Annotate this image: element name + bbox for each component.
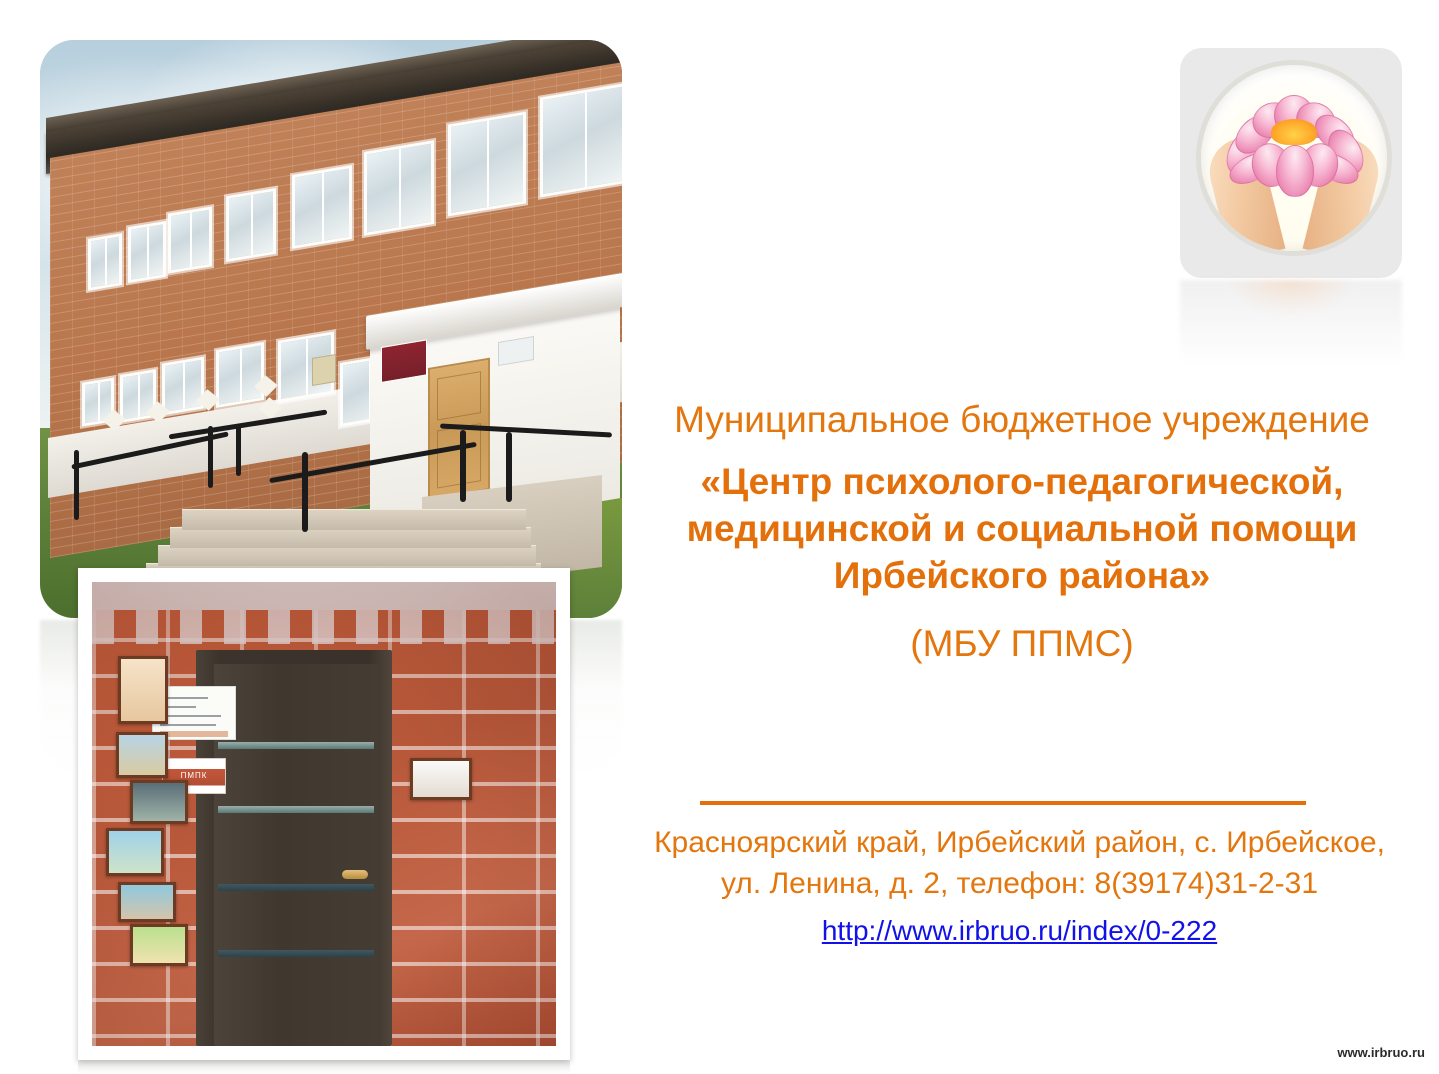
building-exterior-photo [40, 40, 622, 618]
page-title-line1: Муниципальное бюджетное учреждение [622, 398, 1422, 442]
website-link[interactable]: http://www.irbruo.ru/index/0-222 [822, 915, 1217, 946]
logo-reflection [1180, 280, 1402, 400]
door-glass-stripe [218, 742, 374, 749]
window-upper-1 [88, 233, 122, 291]
address-line-1: Красноярский край, Ирбейский район, с. И… [600, 822, 1439, 863]
window-upper-2 [128, 221, 166, 283]
window-upper-4 [226, 188, 276, 262]
door-leaf [214, 664, 378, 1046]
beige-plaque [312, 354, 336, 386]
window-upper-7 [448, 111, 526, 216]
window-upper-5 [292, 165, 352, 249]
handrail-ramp-post [460, 430, 466, 502]
red-plaque [381, 339, 427, 383]
contacts-block: Красноярский край, Ирбейский район, с. И… [600, 822, 1439, 947]
handrail-mid-post [208, 426, 213, 488]
wall-picture [118, 882, 176, 922]
window-upper-3 [168, 206, 212, 273]
lotus-in-hands-logo [1180, 48, 1402, 278]
page-title-bold-line-1: «Центр психолого-педагогической, [622, 458, 1422, 505]
page-title-bold-line-3: Ирбейского района» [622, 552, 1422, 599]
wall-picture [410, 758, 472, 800]
page-title-abbreviation: (МБУ ППМС) [622, 622, 1422, 666]
wall-picture [106, 828, 164, 876]
lotus-stamen [1271, 119, 1317, 145]
handrail-ramp-post2 [506, 432, 512, 502]
logo-circle-frame [1196, 60, 1392, 256]
heading-block: Муниципальное бюджетное учреждение «Цент… [622, 398, 1422, 666]
step [170, 527, 531, 548]
door-handle [342, 870, 368, 879]
office-door-photo-image: ПМПК [92, 582, 556, 1046]
door-glass-stripe [218, 950, 374, 957]
page-title-bold: «Центр психолого-педагогической, медицин… [622, 458, 1422, 600]
door-glass-stripe [218, 806, 374, 813]
wall-picture [118, 656, 168, 724]
window-lower-3 [162, 356, 204, 415]
site-watermark: www.irbruo.ru [1337, 1045, 1425, 1060]
step [182, 509, 526, 530]
window-upper-8 [540, 82, 622, 197]
window-lower-4 [216, 342, 264, 408]
page-title-bold-line-2: медицинской и социальной помощи [622, 505, 1422, 552]
handrail-left-post [74, 450, 79, 520]
handrail-mid-post2 [236, 424, 241, 476]
step [158, 545, 536, 566]
address-line-2: ул. Ленина, д. 2, телефон: 8(39174)31-2-… [600, 863, 1439, 904]
website-link-wrapper: http://www.irbruo.ru/index/0-222 [600, 915, 1439, 947]
door-photo-reflection [78, 1060, 570, 1074]
presentation-slide: ПМПК [0, 0, 1439, 1074]
door-glass-stripe [218, 884, 374, 891]
window-upper-6 [364, 140, 434, 236]
wall-picture [116, 732, 168, 778]
wall-picture [130, 780, 188, 824]
handrail-right-post [302, 452, 308, 532]
wall-picture [130, 924, 188, 966]
section-divider [700, 801, 1306, 805]
lotus-flower-icon [1218, 93, 1370, 203]
office-door-photo: ПМПК [78, 568, 570, 1060]
